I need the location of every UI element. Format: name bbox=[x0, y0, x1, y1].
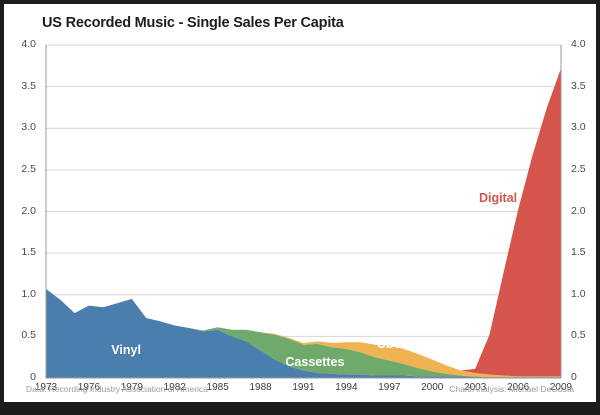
series-label-digital: Digital bbox=[479, 191, 517, 205]
y-tick-label: 3.0 bbox=[6, 121, 36, 133]
area-series-group bbox=[46, 68, 561, 378]
chart-card: US Recorded Music - Single Sales Per Cap… bbox=[0, 0, 600, 406]
y-tick-label: 2.0 bbox=[6, 205, 36, 217]
x-tick-label: 1994 bbox=[326, 382, 366, 393]
stacked-area-chart bbox=[4, 4, 600, 410]
series-label-vinyl: Vinyl bbox=[111, 343, 141, 357]
y-tick-label: 1.5 bbox=[6, 246, 36, 258]
y-tick-label-right: 4.0 bbox=[571, 38, 600, 50]
y-tick-label: 0.5 bbox=[6, 329, 36, 341]
y-tick-label-right: 1.5 bbox=[571, 246, 600, 258]
y-tick-label-right: 3.5 bbox=[571, 80, 600, 92]
y-tick-label: 3.5 bbox=[6, 80, 36, 92]
chart-canvas bbox=[4, 4, 600, 410]
series-label-cds: CDs bbox=[377, 337, 402, 351]
y-tick-label: 2.5 bbox=[6, 163, 36, 175]
x-tick-label: 1988 bbox=[241, 382, 281, 393]
y-tick-label-right: 2.0 bbox=[571, 205, 600, 217]
x-tick-label: 2000 bbox=[412, 382, 452, 393]
series-label-cassettes: Cassettes bbox=[285, 355, 344, 369]
y-tick-label-right: 1.0 bbox=[571, 288, 600, 300]
footer-credit: Chart/Analysis: Michael DeGusta bbox=[449, 384, 574, 394]
y-tick-label-right: 0.5 bbox=[571, 329, 600, 341]
y-tick-label-right: 2.5 bbox=[571, 163, 600, 175]
y-tick-label: 1.0 bbox=[6, 288, 36, 300]
x-tick-label: 1991 bbox=[284, 382, 324, 393]
y-tick-label-right: 3.0 bbox=[571, 121, 600, 133]
y-tick-label: 4.0 bbox=[6, 38, 36, 50]
x-tick-label: 1997 bbox=[369, 382, 409, 393]
footer-source: Data: Recording Industry Association of … bbox=[26, 384, 208, 394]
